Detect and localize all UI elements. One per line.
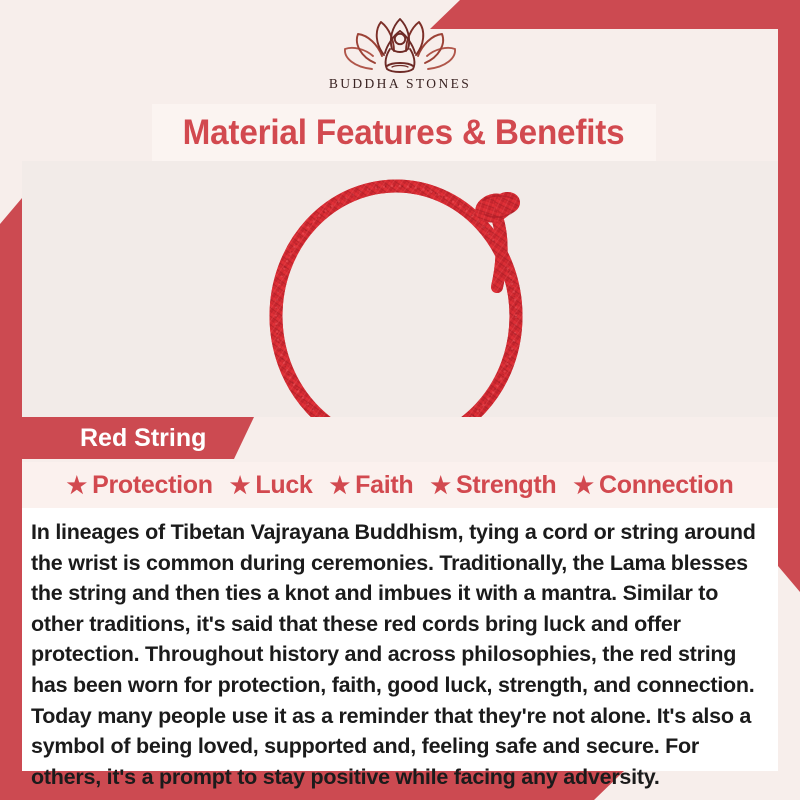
star-icon: ★: [430, 474, 451, 497]
title-banner: Material Features & Benefits: [152, 104, 656, 161]
feature-label: Luck: [255, 471, 312, 500]
star-icon: ★: [330, 474, 351, 497]
star-icon: ★: [573, 474, 594, 497]
feature-item-connection: ★ Connection: [573, 471, 733, 500]
feature-item-protection: ★ Protection: [67, 471, 213, 500]
feature-label: Protection: [92, 471, 213, 500]
feature-list: ★ Protection ★ Luck ★ Faith ★ Strength ★…: [22, 462, 778, 508]
product-photo-area: [22, 161, 778, 417]
feature-item-luck: ★ Luck: [230, 471, 313, 500]
red-braided-string-bracelet: [250, 161, 550, 417]
star-icon: ★: [230, 474, 251, 497]
product-name-chip: Red String: [22, 417, 254, 459]
lotus-meditation-icon: [342, 13, 458, 75]
feature-label: Faith: [355, 471, 413, 500]
feature-label: Strength: [456, 471, 556, 500]
feature-item-faith: ★ Faith: [330, 471, 414, 500]
brand-wordmark: BUDDHA STONES: [329, 76, 471, 92]
description-panel: In lineages of Tibetan Vajrayana Buddhis…: [22, 508, 778, 771]
feature-label: Connection: [599, 471, 734, 500]
product-name-label: Red String: [22, 424, 206, 453]
page-title: Material Features & Benefits: [183, 113, 625, 153]
ribbon-left-decoration: [0, 198, 22, 777]
feature-item-strength: ★ Strength: [430, 471, 556, 500]
brand-header: BUDDHA STONES: [0, 0, 800, 104]
description-paragraph: In lineages of Tibetan Vajrayana Buddhis…: [31, 517, 765, 792]
star-icon: ★: [67, 474, 88, 497]
infographic-page: BUDDHA STONES Material Features & Benefi…: [0, 0, 800, 800]
